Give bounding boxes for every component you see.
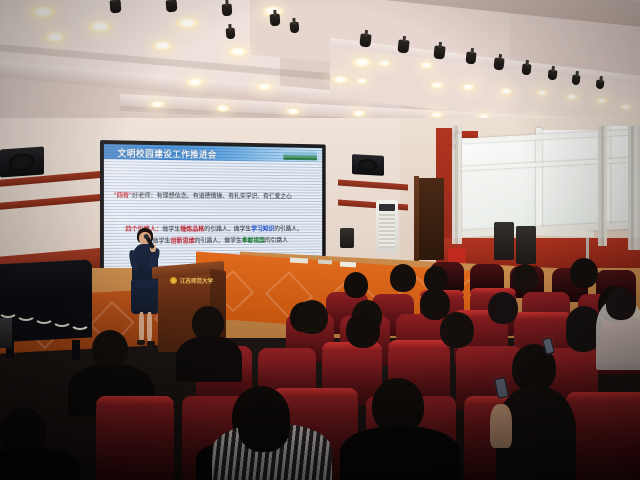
wooden-door[interactable] — [418, 178, 444, 260]
slide-line-2-seg-3: 锤炼品格 — [180, 226, 204, 233]
downlight — [176, 18, 199, 29]
presenter-skirt — [131, 280, 159, 314]
slide-line-3-seg-3: 的引路人、做学生 — [195, 237, 242, 244]
slide-line-1-seg-1: "四有" — [114, 192, 132, 199]
slide-line-2-seg-6: 的引路人、 — [274, 226, 302, 233]
wall-speaker-left — [0, 146, 44, 177]
window-chair-1[interactable] — [494, 222, 514, 260]
slide-line-3: 做学生创新思维的引路人、做学生奉献祖国的引路人 — [152, 235, 288, 245]
audience-head — [192, 306, 224, 340]
equipment-stand — [0, 318, 12, 348]
wall-speaker-right — [352, 154, 384, 176]
audience-head — [566, 316, 600, 352]
audience-head — [296, 300, 328, 334]
downlight — [186, 78, 204, 87]
audience-head — [570, 258, 598, 288]
downlight — [620, 104, 632, 110]
track-spotlight — [290, 22, 300, 34]
smartphone[interactable] — [494, 377, 509, 399]
track-spotlight — [493, 58, 504, 71]
window-curtain-mid[interactable] — [598, 126, 607, 246]
presenter-leg-right — [147, 312, 152, 342]
window-curtain-right[interactable] — [628, 126, 640, 250]
track-spotlight — [222, 4, 233, 17]
presenter-shoe — [137, 340, 145, 345]
seat[interactable] — [96, 400, 174, 480]
downlight — [44, 32, 66, 43]
slide-line-3-seg-4: 奉献祖国 — [242, 237, 265, 244]
presenter-leg-left — [139, 312, 144, 342]
track-spotlight — [226, 28, 236, 40]
downlight — [430, 82, 444, 89]
downlight — [332, 76, 349, 84]
audience-head — [92, 330, 128, 368]
downlight — [152, 41, 173, 51]
air-conditioner — [376, 200, 398, 254]
downlight — [256, 83, 273, 91]
downlight — [352, 110, 366, 117]
downlight — [566, 94, 578, 100]
downlight — [462, 84, 475, 91]
downlight — [536, 90, 548, 96]
piano-drape-scallop — [16, 307, 36, 321]
slide-header-thumbnail — [283, 149, 317, 160]
downlight — [228, 47, 248, 57]
audience-head — [512, 264, 538, 292]
stage-items — [340, 262, 356, 268]
track-spotlight — [433, 45, 445, 59]
downlight — [216, 105, 230, 112]
audience-shoulders — [340, 426, 460, 480]
slide-line-3-seg-2: 创新思维 — [171, 238, 195, 245]
window-chair-2[interactable] — [516, 226, 536, 264]
window-curtain-left[interactable] — [452, 126, 462, 244]
audience-head — [440, 312, 474, 348]
seat[interactable] — [566, 396, 640, 480]
auditorium-photo: 文明校园建设工作推进会 "四有"好老师：有理想信念、有道德情操、有扎实学识、有仁… — [0, 0, 640, 480]
piano-drape-scallop — [70, 316, 90, 330]
downlight — [378, 60, 391, 67]
stage-items — [318, 260, 332, 265]
slide-title: 文明校园建设工作推进会 — [118, 146, 217, 160]
downlight — [150, 101, 165, 108]
downlight — [88, 21, 112, 33]
podium-label: 江苏师范大学 — [180, 277, 213, 285]
piano-drape-scallop — [34, 310, 54, 324]
ac-grill — [379, 214, 395, 248]
ac-display-panel — [379, 204, 395, 211]
slide-line-2-seg-5: 学习知识 — [251, 226, 274, 233]
window-mullion-v2 — [536, 128, 542, 232]
downlight — [352, 58, 372, 68]
phone-screen — [495, 378, 508, 397]
track-spotlight — [397, 39, 409, 53]
track-spotlight — [270, 14, 281, 27]
audience-head — [488, 292, 518, 324]
track-spotlight — [166, 0, 178, 12]
audience-head — [346, 312, 380, 348]
downlight — [356, 78, 368, 84]
slide-header-band: 文明校园建设工作推进会 — [104, 144, 322, 162]
podium-emblem-icon — [170, 277, 177, 284]
presenter-shoe — [147, 341, 155, 346]
downlight — [420, 62, 433, 69]
downlight — [500, 88, 513, 95]
audience-head — [390, 264, 416, 292]
stage-items — [290, 258, 308, 264]
audience-arm — [490, 404, 512, 448]
audience-head — [344, 272, 368, 298]
slide-line-1: "四有"好老师：有理想信念、有道德情操、有扎实学识、有仁爱之心 — [114, 190, 292, 200]
audience-shoulders — [0, 448, 80, 480]
downlight — [596, 98, 608, 104]
door-frame — [414, 176, 419, 262]
slide-line-1-seg-2: 好老师：有理想信念、有道德情操、有扎实学识、有仁爱之心 — [132, 192, 292, 200]
track-spotlight — [465, 52, 476, 65]
audience-head — [238, 398, 290, 452]
track-spotlight — [110, 0, 122, 13]
slide-line-2-seg-4: 的引路人、做学生 — [204, 226, 251, 233]
seat-rim — [388, 340, 450, 348]
downlight — [30, 6, 56, 19]
slide-line-3-seg-5: 的引路人 — [265, 237, 288, 244]
side-chair-small[interactable] — [340, 228, 354, 248]
seat-rim — [272, 388, 358, 397]
seat-rim — [96, 396, 174, 405]
piano-drape-scallop — [52, 313, 72, 327]
audience-head — [606, 288, 636, 320]
piano-leg — [72, 340, 80, 360]
downlight — [286, 108, 300, 115]
window-glass-1 — [460, 138, 538, 230]
track-spotlight — [359, 33, 371, 47]
seat-rim — [566, 392, 640, 401]
audience-shoulders — [176, 336, 242, 382]
